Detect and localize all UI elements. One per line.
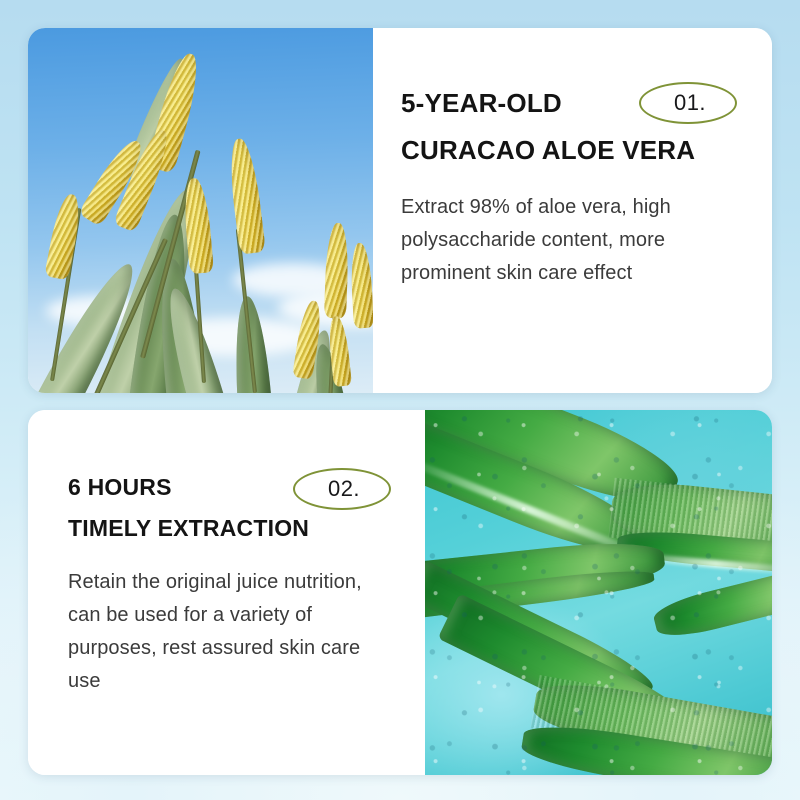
card-01-heading: 5-YEAR-OLD CURACAO ALOE VERA (401, 90, 748, 163)
feature-card-01: 01. 5-YEAR-OLD CURACAO ALOE VERA Extract… (28, 28, 772, 393)
card-02-heading: 6 HOURS TIMELY EXTRACTION (68, 476, 405, 540)
infographic-page: 01. 5-YEAR-OLD CURACAO ALOE VERA Extract… (0, 0, 800, 800)
aloe-vera-flowers-photo (28, 28, 373, 393)
aloe-leaf-macro-photo (425, 410, 772, 775)
feature-card-02: 02. 6 HOURS TIMELY EXTRACTION Retain the… (28, 410, 772, 775)
card-02-heading-line-2: TIMELY EXTRACTION (68, 517, 405, 540)
card-02-content: 6 HOURS TIMELY EXTRACTION Retain the ori… (68, 476, 405, 698)
card-02-heading-line-1: 6 HOURS (68, 476, 405, 499)
card-01-heading-line-2: CURACAO ALOE VERA (401, 137, 748, 163)
card-02-text-panel: 02. 6 HOURS TIMELY EXTRACTION Retain the… (28, 410, 425, 775)
card-01-text-panel: 01. 5-YEAR-OLD CURACAO ALOE VERA Extract… (373, 28, 772, 393)
card-02-body: Retain the original juice nutrition, can… (68, 566, 368, 698)
water-droplets-overlay (425, 410, 772, 775)
card-01-heading-line-1: 5-YEAR-OLD (401, 90, 748, 116)
card-01-content: 5-YEAR-OLD CURACAO ALOE VERA Extract 98%… (401, 90, 748, 290)
card-01-body: Extract 98% of aloe vera, high polysacch… (401, 191, 748, 290)
